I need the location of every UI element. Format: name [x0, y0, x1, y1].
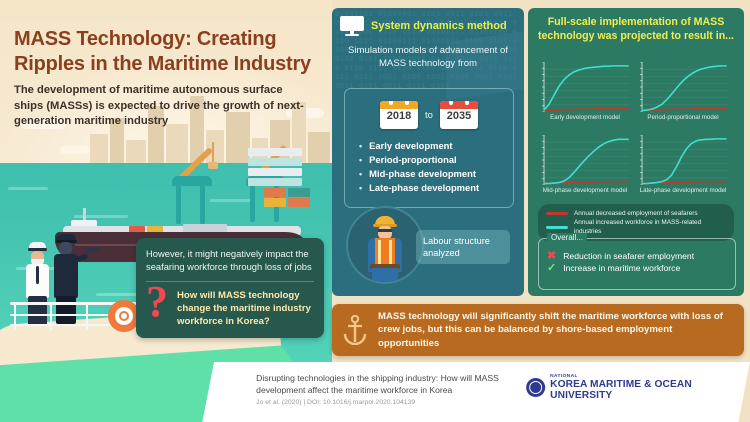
legend-swatch-increased: [546, 226, 568, 229]
calendar-icon-to: 2035: [440, 101, 478, 129]
divider: [146, 281, 314, 282]
results-panel-title: Full-scale implementation of MASS techno…: [536, 16, 736, 43]
anchor-icon: [342, 315, 368, 345]
list-item: •Mid-phase development: [359, 167, 507, 181]
labour-structure-block: Labour structure analyzed: [346, 206, 510, 288]
question-card: However, it might negatively impact the …: [136, 238, 324, 338]
citation-title: Disrupting technologies in the shipping …: [256, 372, 546, 396]
legend-label: Annual decreased employment of seafarers: [574, 209, 698, 218]
question-card-lead: However, it might negatively impact the …: [146, 247, 314, 273]
question-mark-icon: ?: [146, 285, 168, 319]
container-stack: [248, 168, 302, 176]
left-illustration-column: MASS Technology: Creating Ripples in the…: [0, 0, 332, 422]
page-title: MASS Technology: Creating Ripples in the…: [14, 27, 324, 77]
university-seal-icon: [526, 378, 545, 397]
model-name: Early development: [369, 139, 452, 153]
overall-label: Overall...: [547, 233, 587, 242]
research-question: How will MASS technology change the mari…: [177, 289, 314, 328]
chart-title: Mid-phase development model: [536, 187, 634, 194]
cloud-3: [60, 146, 90, 154]
plot-area: [640, 62, 728, 112]
bullet-icon: •: [359, 167, 362, 181]
container-stack: [248, 178, 302, 186]
cross-icon: ✖: [547, 250, 556, 262]
plot-area: [542, 135, 630, 185]
university-logo: NATIONAL KOREA MARITIME & OCEAN UNIVERSI…: [526, 374, 744, 401]
page-subtitle: The development of maritime autonomous s…: [14, 83, 310, 130]
worker-illustration: [346, 206, 424, 284]
model-name: Period-proportional: [369, 153, 457, 167]
center-panel-header: System dynamics method: [340, 16, 507, 36]
legend-swatch-decreased: [546, 212, 568, 215]
check-icon: ✓: [547, 262, 556, 274]
models-box: 2018 to 2035 •Early development •Period-…: [344, 88, 514, 208]
chart-early-development: Early development model: [536, 60, 634, 128]
year-separator: to: [425, 110, 433, 121]
calendar-icon-from: 2018: [380, 101, 418, 129]
overall-item-label: Increase in maritime workforce: [563, 262, 680, 274]
container-stack: [288, 198, 310, 207]
bullet-icon: •: [359, 139, 362, 153]
bullet-icon: •: [359, 153, 362, 167]
overall-item: ✖ Reduction in seafarer employment: [539, 250, 735, 262]
bullet-icon: •: [359, 181, 362, 195]
chart-title: Period-proportional model: [634, 114, 732, 121]
citation-meta: Jo et al. (2020) | DOI: 10.1016/j.marpol…: [256, 399, 415, 406]
logo-line-2: KOREA MARITIME & OCEAN UNIVERSITY: [550, 379, 744, 401]
footer-panel: Disrupting technologies in the shipping …: [202, 362, 750, 422]
charts-grid: Early development model Period-proportio…: [536, 60, 736, 206]
legend-item: Annual decreased employment of seafarers: [546, 209, 726, 218]
conclusion-banner: MASS technology will significantly shift…: [332, 304, 744, 356]
results-panel: Full-scale implementation of MASS techno…: [528, 8, 744, 296]
legend-label: Annual increased workforce in MASS-relat…: [574, 218, 726, 236]
year-to: 2035: [440, 110, 478, 122]
models-list: •Early development •Period-proportional …: [359, 139, 507, 195]
container-stack: [264, 198, 286, 207]
container-stack: [248, 158, 302, 166]
center-panel-title: System dynamics method: [371, 20, 507, 32]
chart-mid-phase: Mid-phase development model: [536, 133, 634, 201]
system-dynamics-panel: 01001101 01000001 0101 0011 0101 0011 01…: [332, 8, 524, 296]
container-stack: [264, 188, 286, 197]
chart-late-phase: Late-phase development model: [634, 133, 732, 201]
port-crane-1: [170, 140, 230, 222]
list-item: •Late-phase development: [359, 181, 507, 195]
overall-item: ✓ Increase in maritime workforce: [539, 262, 735, 274]
chart-title: Early development model: [536, 114, 634, 121]
list-item: •Early development: [359, 139, 507, 153]
conclusion-text: MASS technology will significantly shift…: [378, 310, 734, 350]
overall-item-label: Reduction in seafarer employment: [563, 250, 694, 262]
model-name: Late-phase development: [369, 181, 479, 195]
chart-period-proportional: Period-proportional model: [634, 60, 732, 128]
labour-structure-label: Labour structure analyzed: [416, 230, 510, 264]
overall-summary-box: Overall... ✖ Reduction in seafarer emplo…: [538, 238, 736, 290]
list-item: •Period-proportional: [359, 153, 507, 167]
model-name: Mid-phase development: [369, 167, 476, 181]
plot-area: [640, 135, 728, 185]
chart-title: Late-phase development model: [634, 187, 732, 194]
year-range: 2018 to 2035: [345, 101, 513, 129]
plot-area: [542, 62, 630, 112]
monitor-icon: [340, 16, 364, 36]
infographic-root: MASS Technology: Creating Ripples in the…: [0, 0, 750, 422]
year-from: 2018: [380, 110, 418, 122]
container-stack: [288, 188, 310, 197]
container-stack: [248, 148, 302, 156]
center-panel-subtitle: Simulation models of advancement of MASS…: [344, 44, 512, 70]
